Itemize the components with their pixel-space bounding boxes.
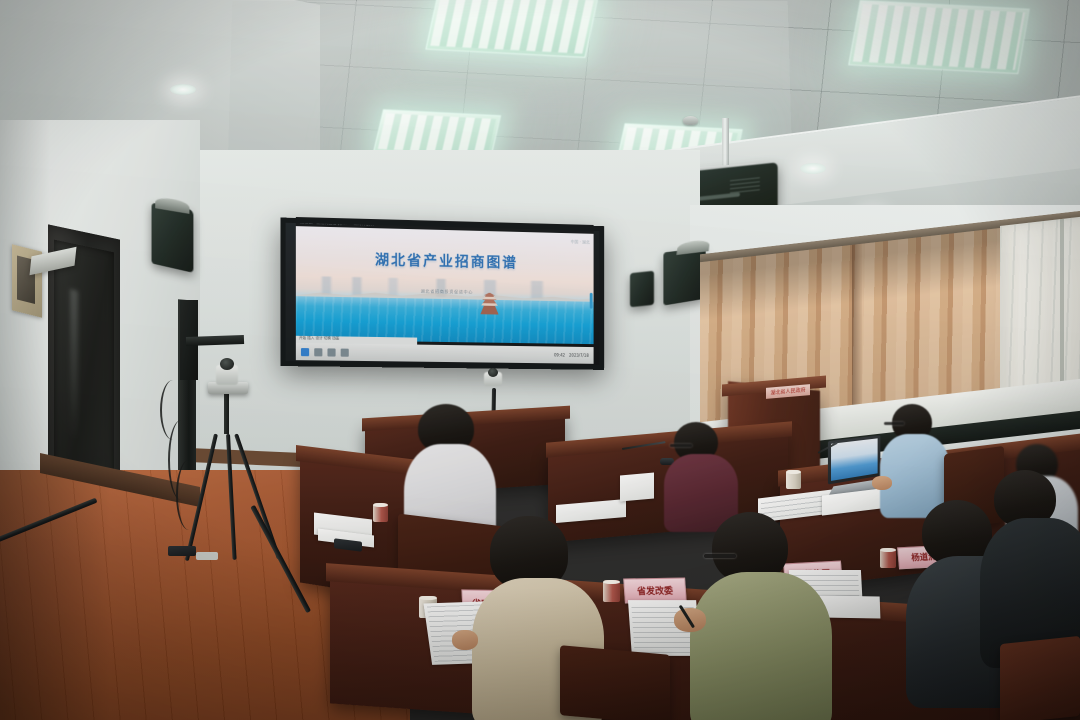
taskbar-date: 2023/7/18	[569, 353, 589, 358]
taskbar-app-icon[interactable]	[327, 348, 335, 356]
start-button-icon[interactable]	[301, 348, 309, 356]
floor-equipment	[196, 552, 218, 560]
taskbar-app-icon[interactable]	[341, 348, 349, 356]
office-chair	[1000, 636, 1080, 720]
taskbar-tray[interactable]: 09:42 2023/7/18	[554, 352, 589, 357]
slide-title: 湖北省产业招商图谱	[296, 248, 594, 275]
projection-screen[interactable]: 湖北省产业招商图谱.pptx — 幻灯片放映 湖北省产业招商图谱 湖北省招商投资…	[282, 218, 605, 368]
screen-display-area: 湖北省产业招商图谱 湖北省招商投资促进中心 中国 · 湖北	[296, 226, 594, 344]
laptop-display	[831, 438, 878, 481]
hand	[872, 476, 892, 490]
floor-shadow	[0, 470, 110, 720]
recessed-downlight	[170, 84, 196, 95]
paper-cup	[373, 503, 388, 522]
smoke-detector-icon	[683, 116, 698, 125]
paper-cup	[603, 580, 620, 602]
floor-equipment	[168, 546, 196, 556]
hand	[452, 630, 478, 650]
office-chair	[560, 645, 670, 720]
podium-nameplate-text: 湖北省人民政府	[770, 386, 805, 396]
taskbar-app-icon[interactable]	[314, 348, 322, 356]
camera-lens-icon	[220, 358, 234, 370]
eyeglasses	[884, 422, 904, 425]
nameplate-text: 省发改委	[637, 584, 674, 598]
eyeglasses	[670, 444, 692, 447]
taskbar-spacer	[354, 352, 549, 355]
presentation-titlebar-text: 湖北省产业招商图谱.pptx — 幻灯片放映	[300, 219, 374, 227]
torso	[690, 572, 832, 720]
document-paper	[620, 473, 654, 502]
conference-room-photo: 湖北省产业招商图谱.pptx — 幻灯片放映 湖北省产业招商图谱 湖北省招商投资…	[0, 0, 1080, 720]
tripod-center-column	[224, 392, 229, 434]
ceiling-light-panel	[848, 0, 1030, 74]
wall-speaker	[152, 203, 194, 273]
windows-taskbar[interactable]: 09:42 2023/7/18	[296, 343, 594, 364]
ceiling-light-panel	[425, 0, 598, 58]
paper-cup	[880, 548, 896, 568]
camera-lens-icon	[488, 368, 498, 377]
eyeglasses	[704, 554, 736, 558]
cable	[176, 460, 202, 530]
paper-cup	[786, 470, 801, 489]
projector-mount-pole	[722, 118, 729, 170]
slide-watermark: 中国 · 湖北	[571, 239, 590, 245]
wall-camera-mount	[630, 271, 654, 308]
taskbar-clock: 09:42	[554, 352, 565, 357]
slide-background: 湖北省产业招商图谱 湖北省招商投资促进中心 中国 · 湖北	[296, 226, 594, 344]
scrollbar-thumb[interactable]	[590, 293, 593, 309]
recessed-downlight	[800, 163, 826, 174]
door-highlight	[70, 289, 78, 441]
